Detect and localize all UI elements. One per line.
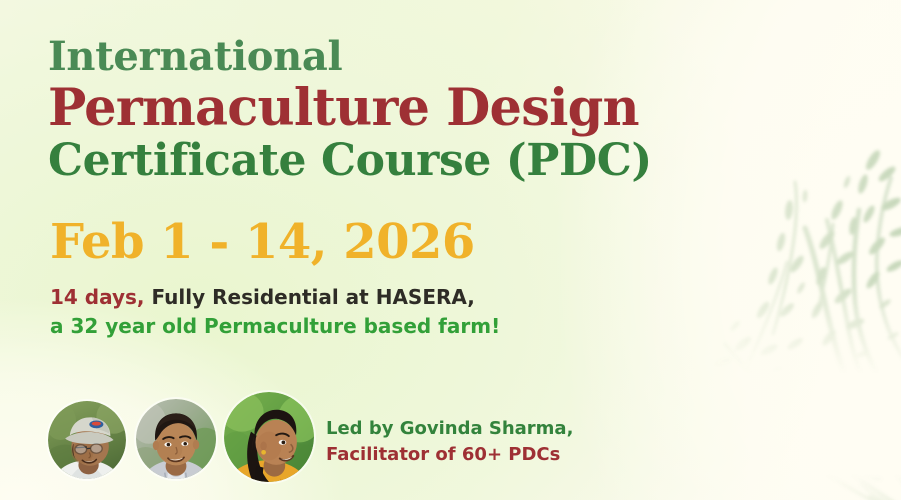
poster-content: International Permaculture Design Certif…	[0, 0, 901, 500]
course-details: 14 days, Fully Residential at HASERA, a …	[50, 283, 500, 341]
headline-line-1: International	[48, 34, 652, 80]
led-by-text: Led by Govinda Sharma,	[326, 416, 573, 442]
headline-line-3: Certificate Course (PDC)	[48, 136, 652, 186]
avatar-woman	[224, 392, 314, 482]
avatar-young-man	[136, 399, 216, 479]
headline-line-2: Permaculture Design	[48, 80, 652, 136]
residential-text: Fully Residential at HASERA,	[145, 285, 475, 309]
headline: International Permaculture Design Certif…	[48, 34, 652, 186]
duration-text: 14 days,	[50, 285, 145, 309]
facilitator-credential: Facilitator of 60+ PDCs	[326, 442, 573, 468]
course-dates: Feb 1 - 14, 2026	[50, 214, 475, 270]
promo-poster: International Permaculture Design Certif…	[0, 0, 901, 500]
detail-line-2: a 32 year old Permaculture based farm!	[50, 312, 500, 341]
avatar-group	[48, 392, 314, 482]
detail-line-1: 14 days, Fully Residential at HASERA,	[50, 283, 500, 312]
avatar-govinda-sharma	[48, 401, 126, 479]
facilitator-row: Led by Govinda Sharma, Facilitator of 60…	[48, 392, 573, 482]
facilitator-credit: Led by Govinda Sharma, Facilitator of 60…	[326, 416, 573, 468]
